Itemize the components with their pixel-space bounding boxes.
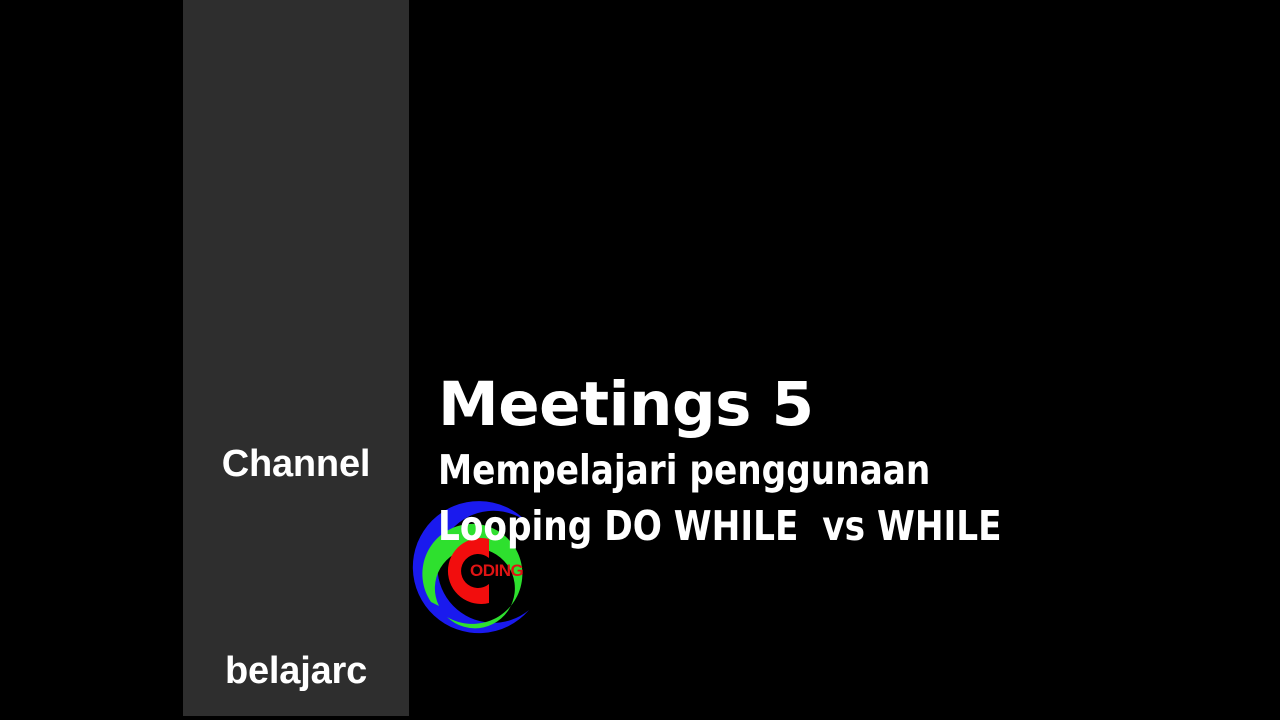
logo-wordmark-text: ODING	[470, 561, 524, 580]
slide-canvas: Channel ODING belajarc Meetings 5 Mempel…	[0, 0, 1280, 720]
channel-label: Channel	[183, 443, 409, 485]
channel-branding-panel: Channel ODING belajarc	[183, 0, 409, 716]
slide-subtitle-line-1: Mempelajari penggunaan	[438, 442, 1173, 498]
slide-subtitle-line-2: Looping DO WHILE vs WHILE	[438, 498, 1173, 554]
channel-name: belajarc	[183, 650, 409, 692]
slide-title: Meetings 5	[438, 368, 1228, 442]
title-block: Meetings 5 Mempelajari penggunaan Loopin…	[438, 368, 1228, 554]
